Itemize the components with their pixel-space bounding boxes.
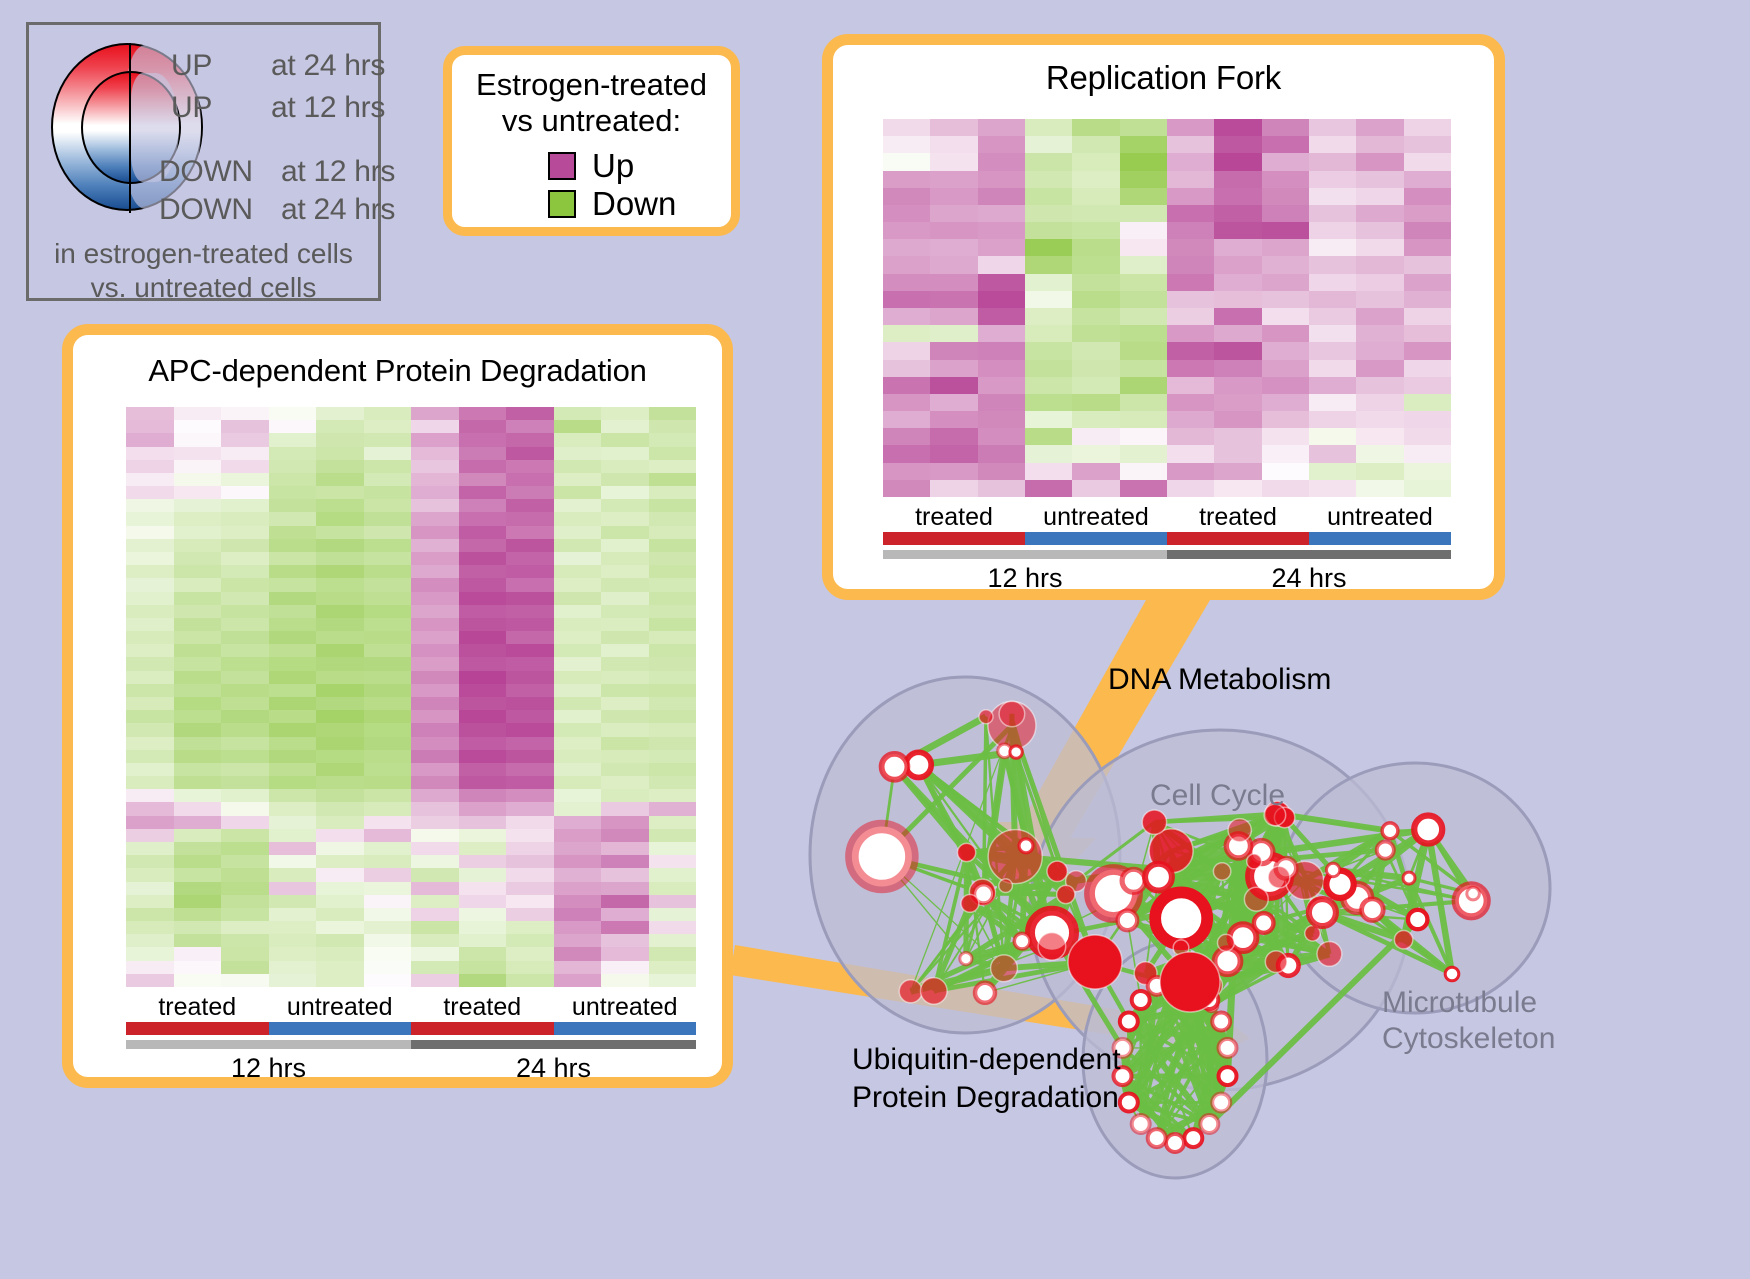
cluster-label-ubiquitin-line-1: Ubiquitin-dependent [852, 1042, 1121, 1077]
node-circle[interactable] [961, 895, 979, 913]
node-circle[interactable] [1038, 933, 1066, 961]
network-node[interactable] [1377, 842, 1394, 859]
network-node[interactable] [1118, 911, 1138, 931]
node-circle[interactable] [1414, 816, 1442, 844]
node-circle[interactable] [988, 830, 1042, 884]
node-circle[interactable] [1120, 1013, 1138, 1031]
node-circle[interactable] [1212, 1094, 1230, 1112]
network-node[interactable] [961, 895, 979, 913]
node-circle[interactable] [1148, 1129, 1166, 1147]
node-circle[interactable] [1244, 887, 1268, 911]
node-circle[interactable] [1145, 864, 1172, 891]
node-circle[interactable] [1228, 819, 1251, 842]
node-circle[interactable] [1019, 839, 1033, 853]
network-node[interactable] [1142, 810, 1166, 834]
node-circle[interactable] [960, 953, 972, 965]
node-circle[interactable] [1254, 913, 1274, 933]
network-node[interactable] [975, 983, 995, 1003]
node-circle[interactable] [1219, 1067, 1237, 1085]
node-circle[interactable] [1317, 942, 1342, 967]
node-circle[interactable] [1014, 933, 1030, 949]
node-circle[interactable] [1213, 863, 1230, 880]
network-node[interactable] [988, 830, 1042, 884]
network-node[interactable] [1038, 933, 1066, 961]
network-node[interactable] [1309, 899, 1336, 926]
node-circle[interactable] [958, 843, 976, 861]
network-node[interactable] [1445, 967, 1459, 981]
node-circle[interactable] [1309, 899, 1336, 926]
network-node[interactable] [1120, 1094, 1138, 1112]
network-node[interactable] [1254, 913, 1274, 933]
network-node[interactable] [1265, 951, 1287, 973]
cluster-label-cell-cycle: Cell Cycle [1150, 778, 1285, 813]
node-circle[interactable] [999, 879, 1013, 893]
network-node[interactable] [1414, 816, 1442, 844]
node-circle[interactable] [1120, 1094, 1138, 1112]
node-circle[interactable] [1265, 951, 1287, 973]
node-circle[interactable] [1377, 842, 1394, 859]
network-node[interactable] [1394, 931, 1412, 949]
node-circle[interactable] [1122, 869, 1145, 892]
node-circle[interactable] [852, 827, 912, 887]
network-node[interactable] [1218, 934, 1235, 951]
node-circle[interactable] [1010, 746, 1022, 758]
network-node[interactable] [991, 955, 1018, 982]
node-circle[interactable] [979, 710, 993, 724]
node-circle[interactable] [1184, 1129, 1202, 1147]
node-circle[interactable] [1362, 899, 1384, 921]
network-node[interactable] [1057, 885, 1075, 903]
cluster-label-dna-metabolism: DNA Metabolism [1108, 662, 1331, 697]
node-circle[interactable] [1155, 892, 1207, 944]
network-node[interactable] [1212, 1013, 1230, 1031]
node-circle[interactable] [975, 983, 995, 1003]
network-node[interactable] [1155, 892, 1207, 944]
network-node[interactable] [1132, 991, 1150, 1009]
network-node[interactable] [1326, 863, 1339, 876]
node-circle[interactable] [1247, 854, 1262, 869]
cluster-label-microtubule-line-2: Cytoskeleton [1382, 1021, 1555, 1056]
node-circle[interactable] [1212, 1013, 1230, 1031]
node-circle[interactable] [1408, 910, 1427, 929]
node-circle[interactable] [1326, 863, 1339, 876]
cluster-label-microtubule-line-1: Microtubule [1382, 985, 1537, 1020]
node-circle[interactable] [1445, 967, 1459, 981]
network-node[interactable] [1467, 887, 1480, 900]
network-svg [790, 610, 1740, 1279]
network-node[interactable] [1120, 1013, 1138, 1031]
network-node[interactable] [1228, 819, 1251, 842]
network-node[interactable] [1122, 869, 1145, 892]
network-node[interactable] [1200, 1115, 1218, 1133]
network-node[interactable] [999, 879, 1013, 893]
network-node[interactable] [960, 953, 972, 965]
node-circle[interactable] [999, 701, 1025, 727]
network-node[interactable] [1019, 839, 1033, 853]
node-circle[interactable] [921, 978, 948, 1005]
network-node[interactable] [958, 843, 976, 861]
network-node[interactable] [1014, 933, 1030, 949]
network-node[interactable] [1148, 1129, 1166, 1147]
network-node[interactable] [1184, 1129, 1202, 1147]
network-node[interactable] [1382, 823, 1398, 839]
node-circle[interactable] [1394, 931, 1412, 949]
network-node[interactable] [979, 710, 993, 724]
node-circle[interactable] [1268, 866, 1290, 888]
network-node[interactable] [899, 980, 922, 1003]
node-circle[interactable] [1403, 872, 1415, 884]
network-node[interactable] [1132, 1115, 1150, 1133]
network-node[interactable] [1317, 942, 1342, 967]
network-node[interactable] [1219, 1039, 1237, 1057]
network-node[interactable] [1068, 935, 1122, 989]
network-node[interactable] [1047, 861, 1067, 881]
network-node[interactable] [1244, 887, 1268, 911]
node-circle[interactable] [1219, 1039, 1237, 1057]
network-node[interactable] [1219, 1067, 1237, 1085]
node-circle[interactable] [899, 980, 922, 1003]
network-node[interactable] [999, 701, 1025, 727]
node-circle[interactable] [991, 955, 1018, 982]
network-node[interactable] [921, 978, 948, 1005]
node-circle[interactable] [1160, 952, 1220, 1012]
node-circle[interactable] [1382, 823, 1398, 839]
node-circle[interactable] [1200, 1115, 1218, 1133]
network-node[interactable] [1145, 864, 1172, 891]
network-node[interactable] [1362, 899, 1384, 921]
network-node[interactable] [1160, 952, 1220, 1012]
network-node[interactable] [1213, 863, 1230, 880]
node-circle[interactable] [1142, 810, 1166, 834]
node-circle[interactable] [1467, 887, 1480, 900]
network-node[interactable] [1010, 746, 1022, 758]
node-circle[interactable] [1057, 885, 1075, 903]
node-circle[interactable] [1166, 1134, 1184, 1152]
network-node[interactable] [1212, 1094, 1230, 1112]
network-node[interactable] [1408, 910, 1427, 929]
node-circle[interactable] [1132, 991, 1150, 1009]
node-circle[interactable] [882, 754, 908, 780]
node-circle[interactable] [1132, 1115, 1150, 1133]
cluster-label-ubiquitin-line-2: Protein Degradation [852, 1080, 1119, 1115]
network-node[interactable] [1268, 866, 1290, 888]
network-node[interactable] [1247, 854, 1262, 869]
node-circle[interactable] [1118, 911, 1138, 931]
node-circle[interactable] [1218, 934, 1235, 951]
network-node[interactable] [882, 754, 908, 780]
network-node[interactable] [1166, 1134, 1184, 1152]
network-node[interactable] [852, 827, 912, 887]
node-circle[interactable] [1047, 861, 1067, 881]
network-node[interactable] [1403, 872, 1415, 884]
node-circle[interactable] [1068, 935, 1122, 989]
pathway-network-diagram: DNA Metabolism Cell Cycle Microtubule Cy… [790, 610, 1740, 1279]
